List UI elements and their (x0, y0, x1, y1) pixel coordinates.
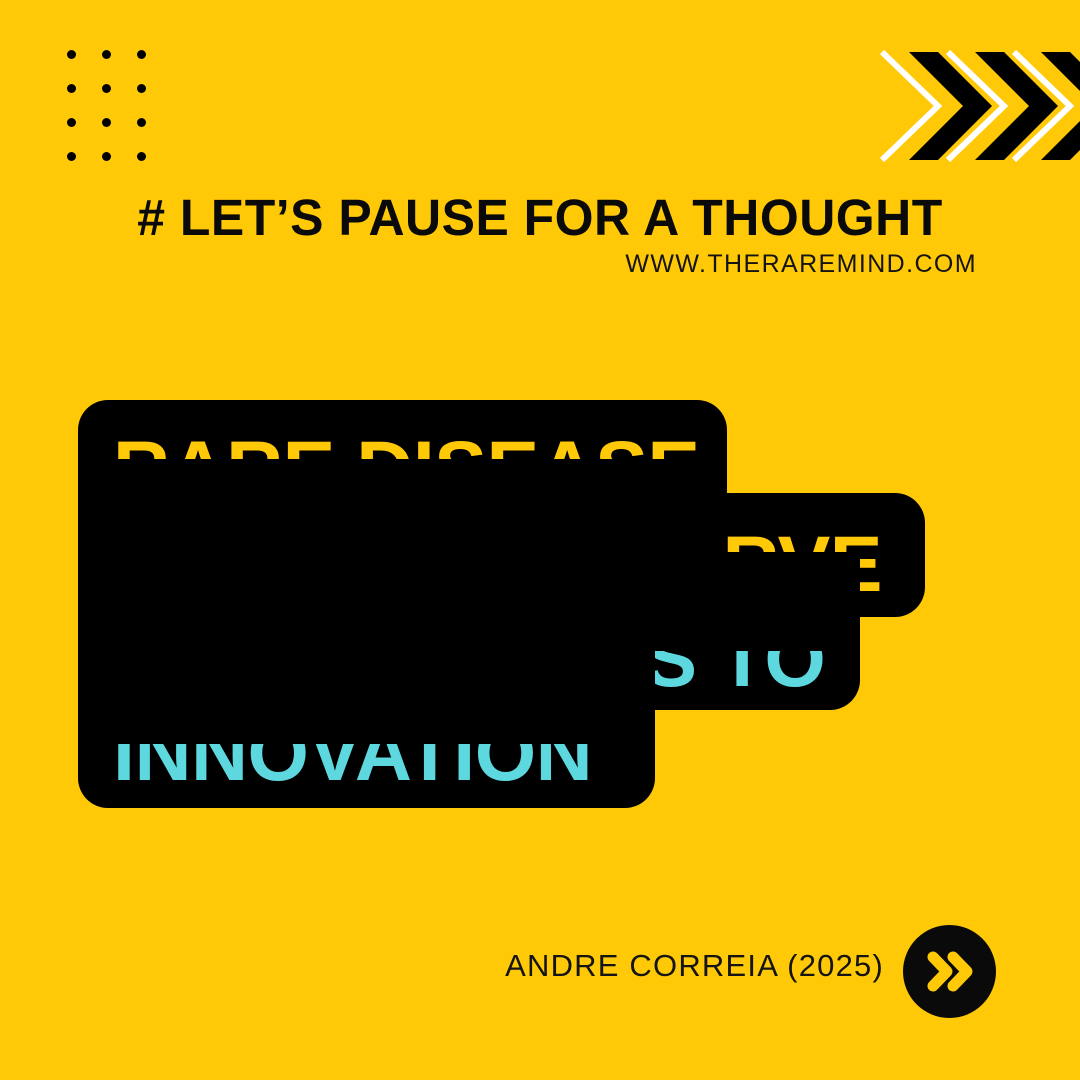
website-url: WWW.THERAREMIND.COM (0, 250, 1080, 279)
dot (102, 118, 111, 127)
header-block: # LET’S PAUSE FOR A THOUGHT WWW.THERAREM… (0, 192, 1080, 243)
dot (102, 50, 111, 59)
dot (67, 152, 76, 161)
dot (137, 118, 146, 127)
chevron-cluster-decor (876, 44, 1080, 168)
hashtag-title: # LET’S PAUSE FOR A THOUGHT (11, 192, 1069, 243)
headline-band-joint (78, 459, 727, 558)
dot (137, 50, 146, 59)
dot (67, 84, 76, 93)
dot (102, 84, 111, 93)
attribution-text: ANDRE CORREIA (2025) (0, 948, 884, 984)
headline-band-joint (78, 552, 860, 651)
dot-grid-decor (67, 50, 151, 162)
double-chevron-right-icon (903, 925, 996, 1018)
dot (67, 118, 76, 127)
dot (102, 152, 111, 161)
quote-card-canvas: # LET’S PAUSE FOR A THOUGHT WWW.THERAREM… (0, 0, 1080, 1080)
chevron-unit (1008, 44, 1080, 168)
chevron-solid (1008, 44, 1080, 168)
headline-block: RARE DISEASE PATIENTS DESERVE FASTER PAT… (78, 400, 938, 808)
dot (67, 50, 76, 59)
headline-band-joint (78, 646, 655, 744)
dot (137, 84, 146, 93)
dot (137, 152, 146, 161)
